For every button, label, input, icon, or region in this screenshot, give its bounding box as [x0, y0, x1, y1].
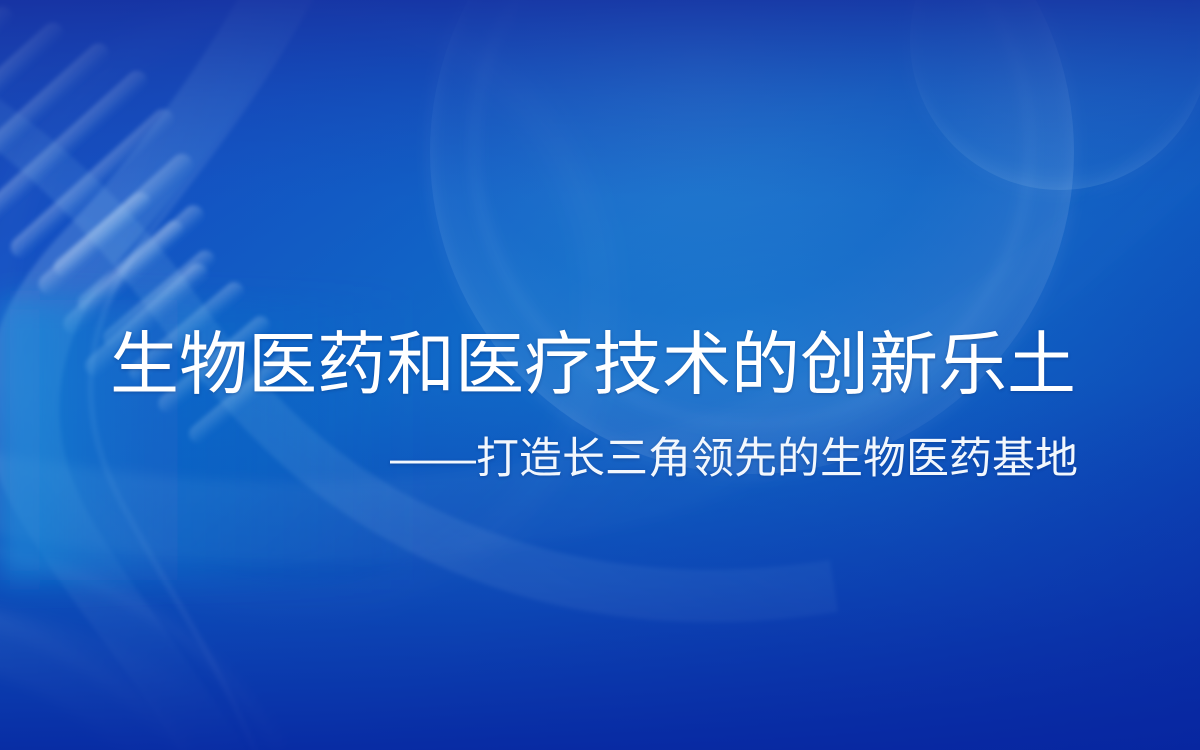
- background-left-glow: [0, 300, 420, 580]
- banner-slide: 生物医药和医疗技术的创新乐土 ——打造长三角领先的生物医药基地: [0, 0, 1200, 750]
- background-artwork: [0, 0, 1200, 750]
- background-top-shade: [0, 0, 1200, 330]
